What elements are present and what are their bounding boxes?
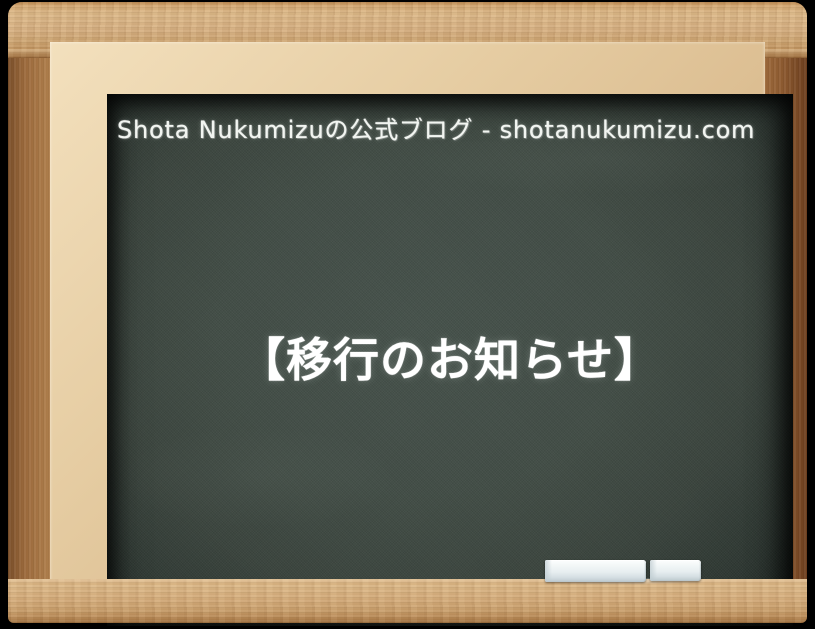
chalkboard-surface: Shota Nukumizuの公式ブログ - shotanukumizu.com… <box>107 94 793 626</box>
chalk-stick-long <box>545 560 646 582</box>
frame-inner-bevel: Shota Nukumizuの公式ブログ - shotanukumizu.com… <box>50 42 765 590</box>
chalkboard-scene: Shota Nukumizuの公式ブログ - shotanukumizu.com… <box>0 0 815 629</box>
chalk-stick-short <box>650 560 701 581</box>
site-title: Shota Nukumizuの公式ブログ - shotanukumizu.com <box>117 110 755 145</box>
wooden-frame: Shota Nukumizuの公式ブログ - shotanukumizu.com… <box>8 2 807 623</box>
frame-chalk-tray <box>8 579 807 623</box>
headline-text: 【移行のお知らせ】 <box>107 324 793 390</box>
